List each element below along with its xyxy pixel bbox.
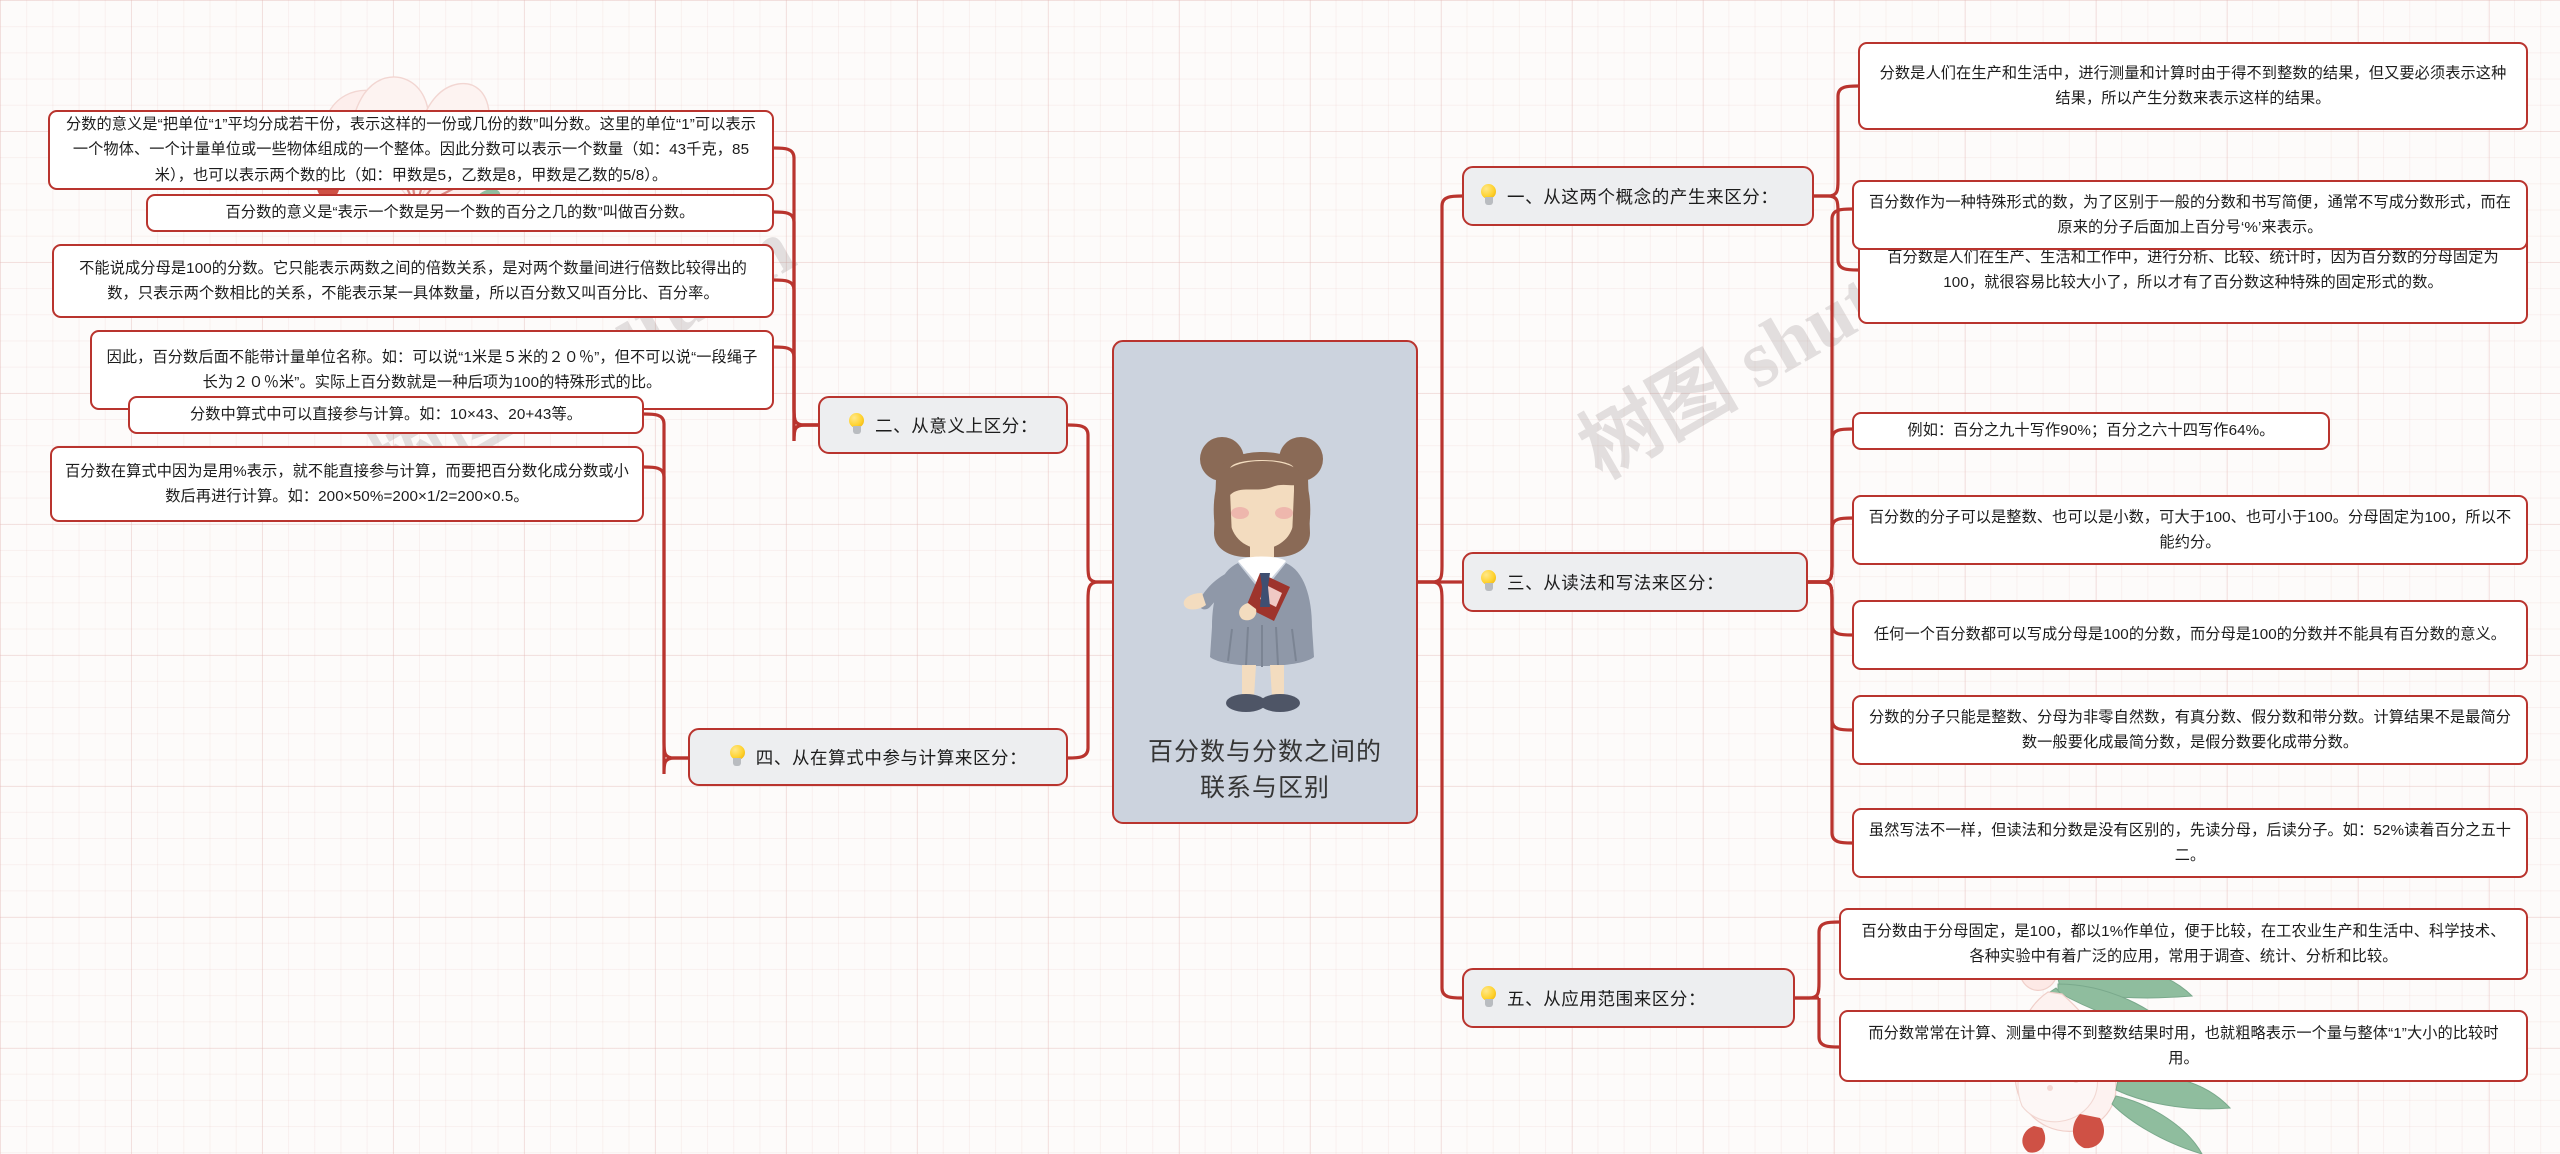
mindmap-canvas: 树图 shutu.cn 树图 shutu.cn xyxy=(0,0,2560,1154)
student-girl-illustration xyxy=(1160,421,1370,721)
leaf-node-3-2[interactable]: 例如：百分之九十写作90%；百分之六十四写作64%。 xyxy=(1852,412,2330,450)
lightbulb-icon xyxy=(848,413,865,437)
lightbulb-icon xyxy=(729,745,746,769)
branch-node-2[interactable]: 二、从意义上区分： xyxy=(818,396,1068,454)
lightbulb-icon xyxy=(1480,184,1497,208)
leaf-node-4-1[interactable]: 分数中算式中可以直接参与计算。如：10×43、20+43等。 xyxy=(128,396,644,434)
branch-label-5: 五、从应用范围来区分： xyxy=(1507,986,1706,1011)
branch-node-4[interactable]: 四、从在算式中参与计算来区分： xyxy=(688,728,1068,786)
branch-label-1: 一、从这两个概念的产生来区分： xyxy=(1507,184,1779,209)
lightbulb-icon xyxy=(1480,570,1497,594)
lightbulb-icon xyxy=(1480,986,1497,1010)
leaf-node-3-4[interactable]: 任何一个百分数都可以写成分母是100的分数，而分母是100的分数并不能具有百分数… xyxy=(1852,600,2528,670)
leaf-node-3-5[interactable]: 分数的分子只能是整数、分母为非零自然数，有真分数、假分数和带分数。计算结果不是最… xyxy=(1852,695,2528,765)
leaf-node-5-2[interactable]: 而分数常常在计算、测量中得不到整数结果时用，也就粗略表示一个量与整体“1”大小的… xyxy=(1839,1010,2528,1082)
branch-node-1[interactable]: 一、从这两个概念的产生来区分： xyxy=(1462,166,1814,226)
leaf-node-2-3[interactable]: 不能说成分母是100的分数。它只能表示两数之间的倍数关系，是对两个数量间进行倍数… xyxy=(52,244,774,318)
leaf-node-3-1[interactable]: 百分数作为一种特殊形式的数，为了区别于一般的分数和书写简便，通常不写成分数形式，… xyxy=(1852,180,2528,250)
leaf-node-5-1[interactable]: 百分数由于分母固定，是100，都以1%作单位，便于比较，在工农业生产和生活中、科… xyxy=(1839,908,2528,980)
leaf-node-3-3[interactable]: 百分数的分子可以是整数、也可以是小数，可大于100、也可小于100。分母固定为1… xyxy=(1852,495,2528,565)
branch-label-3: 三、从读法和写法来区分： xyxy=(1507,570,1724,595)
branch-label-2: 二、从意义上区分： xyxy=(875,413,1038,438)
leaf-node-2-1[interactable]: 分数的意义是“把单位“1”平均分成若干份，表示这样的一份或几份的数”叫分数。这里… xyxy=(48,110,774,190)
leaf-node-4-2[interactable]: 百分数在算式中因为是用%表示，就不能直接参与计算，而要把百分数化成分数或小数后再… xyxy=(50,446,644,522)
leaf-node-2-2[interactable]: 百分数的意义是“表示一个数是另一个数的百分之几的数”叫做百分数。 xyxy=(146,194,774,232)
root-node[interactable]: 百分数与分数之间的联系与区别 xyxy=(1112,340,1418,824)
branch-node-3[interactable]: 三、从读法和写法来区分： xyxy=(1462,552,1808,612)
branch-label-4: 四、从在算式中参与计算来区分： xyxy=(756,745,1028,770)
leaf-node-3-6[interactable]: 虽然写法不一样，但读法和分数是没有区别的，先读分母，后读分子。如：52%读着百分… xyxy=(1852,808,2528,878)
root-title: 百分数与分数之间的联系与区别 xyxy=(1141,735,1389,806)
branch-node-5[interactable]: 五、从应用范围来区分： xyxy=(1462,968,1795,1028)
leaf-node-1-1[interactable]: 分数是人们在生产和生活中，进行测量和计算时由于得不到整数的结果，但又要必须表示这… xyxy=(1858,42,2528,130)
